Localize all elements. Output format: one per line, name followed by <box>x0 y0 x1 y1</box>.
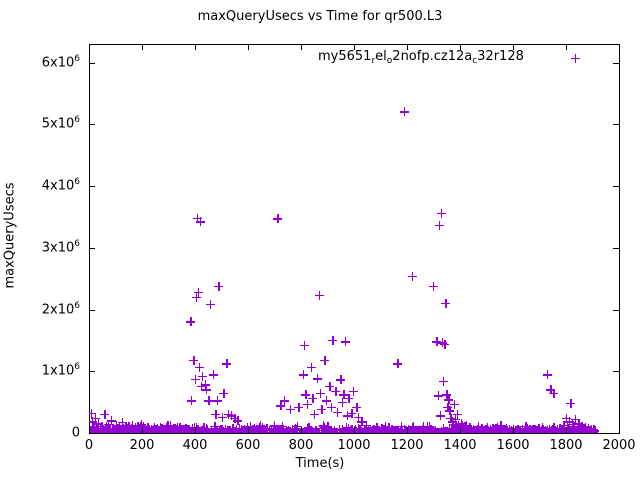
x-tick-mark <box>89 44 90 50</box>
x-tick-mark <box>566 427 567 433</box>
y-tick-mark <box>89 186 95 187</box>
gnuplot-scatter-chart: maxQueryUsecs vs Time for qr500.L3 01x10… <box>0 0 640 480</box>
x-tick-label: 0 <box>85 438 93 453</box>
x-tick-mark <box>248 427 249 433</box>
y-tick-label: 1x106 <box>0 364 80 379</box>
x-tick-label: 800 <box>289 438 314 453</box>
y-tick-mark <box>613 248 619 249</box>
x-axis-title: Time(s) <box>0 456 640 471</box>
x-tick-mark <box>301 427 302 433</box>
x-tick-mark <box>89 427 90 433</box>
y-tick-mark <box>613 433 619 434</box>
y-tick-label: 0 <box>0 426 80 441</box>
x-tick-mark <box>407 427 408 433</box>
x-tick-mark <box>513 427 514 433</box>
x-tick-mark <box>619 44 620 50</box>
page-title: maxQueryUsecs vs Time for qr500.L3 <box>0 9 640 24</box>
x-tick-label: 2000 <box>602 438 635 453</box>
y-tick-mark <box>613 63 619 64</box>
y-tick-mark <box>89 63 95 64</box>
x-tick-label: 1400 <box>443 438 476 453</box>
y-tick-mark <box>89 310 95 311</box>
y-tick-label: 5x106 <box>0 117 80 132</box>
y-tick-label: 6x106 <box>0 55 80 70</box>
x-tick-mark <box>301 44 302 50</box>
x-tick-mark <box>195 427 196 433</box>
x-tick-mark <box>619 427 620 433</box>
x-tick-mark <box>142 427 143 433</box>
x-tick-mark <box>460 427 461 433</box>
x-tick-label: 1800 <box>549 438 582 453</box>
x-tick-mark <box>566 44 567 50</box>
x-tick-label: 1000 <box>337 438 370 453</box>
y-tick-mark <box>613 186 619 187</box>
x-tick-label: 400 <box>183 438 208 453</box>
legend-label: my5651relo2nofp.cz12ac32r128 <box>318 49 524 64</box>
y-tick-mark <box>89 371 95 372</box>
y-tick-mark <box>89 433 95 434</box>
legend-marker-icon <box>571 54 580 63</box>
y-axis-title: maxQueryUsecs <box>3 156 18 316</box>
x-tick-mark <box>195 44 196 50</box>
plot-border <box>89 44 620 434</box>
x-tick-label: 600 <box>236 438 261 453</box>
x-tick-label: 200 <box>130 438 155 453</box>
y-tick-mark <box>613 124 619 125</box>
x-tick-label: 1600 <box>496 438 529 453</box>
y-tick-mark <box>613 371 619 372</box>
x-tick-label: 1200 <box>390 438 423 453</box>
y-tick-mark <box>89 124 95 125</box>
x-tick-mark <box>354 427 355 433</box>
y-tick-mark <box>613 310 619 311</box>
x-tick-mark <box>142 44 143 50</box>
y-tick-mark <box>89 248 95 249</box>
x-tick-mark <box>248 44 249 50</box>
